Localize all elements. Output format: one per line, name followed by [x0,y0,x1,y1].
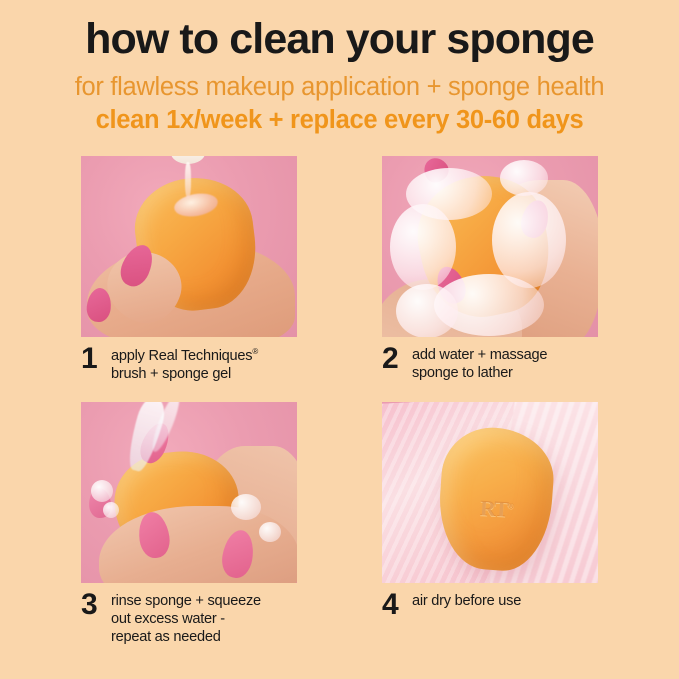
step-number-1: 1 [81,346,111,372]
step-number-4: 4 [382,592,412,618]
step-card-3: 3 rinse sponge + squeeze out excess wate… [81,402,297,646]
step-text-line: apply Real Techniques [111,348,252,364]
step-caption-2: 2 add water + massage sponge to lather [382,346,598,383]
soap-foam [500,160,548,196]
step-text-line: sponge to lather [412,365,513,381]
gel-stream [185,162,191,198]
step-caption-3: 3 rinse sponge + squeeze out excess wate… [81,592,297,646]
infographic-root: how to clean your sponge for flawless ma… [0,0,679,679]
step-text-1: apply Real Techniques® brush + sponge ge… [111,346,258,383]
step-text-line: air dry before use [412,593,521,609]
steps-row-top: 1 apply Real Techniques® brush + sponge … [81,156,598,383]
subtitle-secondary: clean 1x/week + replace every 30-60 days [0,105,679,135]
step-text-line: repeat as needed [111,629,221,645]
step-photo-2 [382,156,598,337]
page-title: how to clean your sponge [0,18,679,61]
step-text-4: air dry before use [412,592,521,611]
subtitle-primary: for flawless makeup application + sponge… [0,72,679,102]
soap-foam [492,192,566,288]
step-card-4: RT® 4 air dry before use [382,402,598,646]
step-number-2: 2 [382,346,412,372]
soap-foam [390,204,456,290]
step-photo-3 [81,402,297,583]
step-text-line: out excess water - [111,611,225,627]
header: how to clean your sponge for flawless ma… [0,0,679,135]
step-caption-4: 4 air dry before use [382,592,598,618]
trademark-symbol: ® [252,347,258,356]
step-caption-1: 1 apply Real Techniques® brush + sponge … [81,346,297,383]
trademark-symbol: ® [508,502,513,511]
step-card-2: 2 add water + massage sponge to lather [382,156,598,383]
soap-foam [396,284,458,337]
step-photo-1 [81,156,297,337]
step-text-line: brush + sponge gel [111,366,231,382]
steps-row-bottom: 3 rinse sponge + squeeze out excess wate… [81,402,598,646]
step-photo-4: RT® [382,402,598,583]
steps-grid: 1 apply Real Techniques® brush + sponge … [81,156,598,647]
rt-logo-emboss: RT® [479,496,513,524]
step-text-3: rinse sponge + squeeze out excess water … [111,592,261,646]
step-text-line: rinse sponge + squeeze [111,593,261,609]
step-text-2: add water + massage sponge to lather [412,346,547,383]
step-number-3: 3 [81,592,111,618]
rt-logo-mark: RT [479,496,508,522]
step-card-1: 1 apply Real Techniques® brush + sponge … [81,156,297,383]
step-text-line: add water + massage [412,347,547,363]
